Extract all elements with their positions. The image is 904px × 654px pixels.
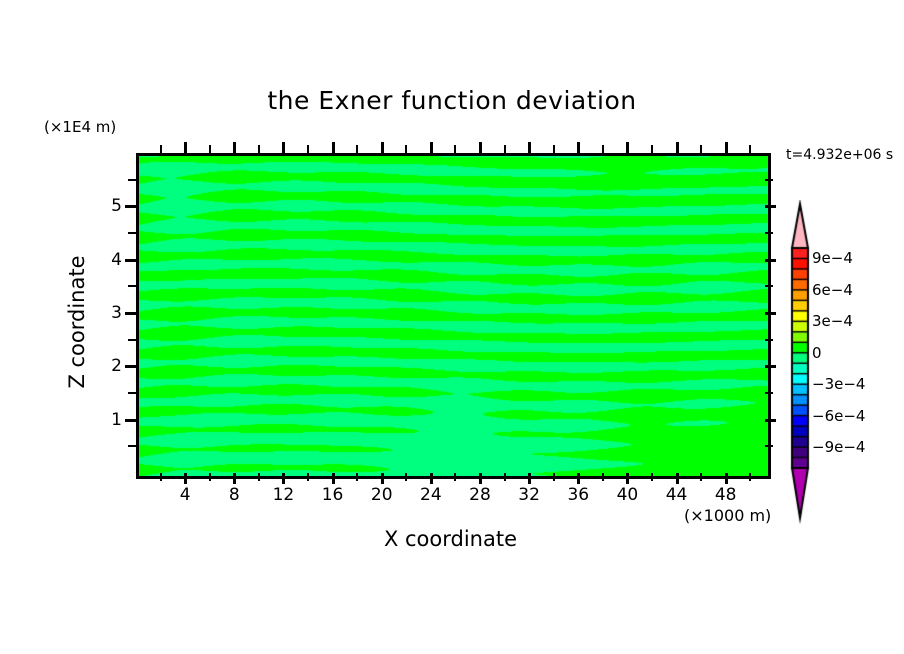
- x-tick: [233, 142, 236, 153]
- x-tick: [553, 145, 555, 153]
- x-tick: [381, 473, 384, 484]
- x-ticklabel: 36: [567, 485, 589, 505]
- x-ticklabel: 12: [273, 485, 295, 505]
- x-tick: [577, 142, 580, 153]
- y-tick: [128, 285, 136, 287]
- x-axis-unit-label: (×1000 m): [684, 506, 771, 525]
- x-tick: [479, 142, 482, 153]
- colorbar-ticklabel: 9e−4: [812, 249, 853, 267]
- colorbar-ticklabel: 0: [812, 344, 822, 362]
- x-tick: [725, 473, 728, 484]
- y-tick: [765, 445, 773, 447]
- x-tick: [258, 145, 260, 153]
- y-tick: [765, 285, 773, 287]
- x-tick: [356, 473, 358, 481]
- x-tick: [700, 145, 702, 153]
- x-tick: [430, 473, 433, 484]
- colorbar-ticklabel: 6e−4: [812, 281, 853, 299]
- y-tick: [128, 339, 136, 341]
- time-annotation: t=4.932e+06 s: [786, 147, 893, 163]
- y-ticklabel: 3: [96, 303, 122, 323]
- x-tick: [258, 473, 260, 481]
- x-tick: [528, 142, 531, 153]
- x-tick: [749, 145, 751, 153]
- x-ticklabel: 24: [420, 485, 442, 505]
- y-axis-label: Z coordinate: [65, 222, 89, 422]
- x-tick: [209, 145, 211, 153]
- x-tick: [282, 473, 285, 484]
- x-ticklabel: 4: [180, 485, 191, 505]
- y-tick: [125, 365, 136, 368]
- x-tick: [479, 473, 482, 484]
- x-axis-label: X coordinate: [136, 527, 765, 551]
- x-tick: [504, 145, 506, 153]
- plot-area: [136, 153, 771, 479]
- x-tick: [676, 142, 679, 153]
- x-tick: [184, 142, 187, 153]
- x-tick: [209, 473, 211, 481]
- x-tick: [160, 473, 162, 481]
- x-tick: [749, 473, 751, 481]
- x-tick: [282, 142, 285, 153]
- x-tick: [626, 142, 629, 153]
- x-tick: [504, 473, 506, 481]
- x-tick: [676, 473, 679, 484]
- y-tick: [125, 205, 136, 208]
- x-ticklabel: 8: [229, 485, 240, 505]
- y-tick: [765, 419, 776, 422]
- x-tick: [160, 145, 162, 153]
- y-tick: [765, 312, 776, 315]
- x-tick: [332, 142, 335, 153]
- x-tick: [626, 473, 629, 484]
- x-tick: [405, 145, 407, 153]
- x-tick: [233, 473, 236, 484]
- x-ticklabel: 32: [518, 485, 540, 505]
- y-tick: [765, 179, 773, 181]
- y-ticklabel: 2: [96, 356, 122, 376]
- x-ticklabel: 44: [666, 485, 688, 505]
- y-tick: [128, 392, 136, 394]
- y-tick: [765, 259, 776, 262]
- y-ticklabel: 4: [96, 250, 122, 270]
- x-tick: [651, 473, 653, 481]
- x-tick: [725, 142, 728, 153]
- y-tick: [128, 232, 136, 234]
- x-tick: [577, 473, 580, 484]
- x-tick: [602, 473, 604, 481]
- page-title: the Exner function deviation: [0, 86, 904, 115]
- y-tick: [125, 259, 136, 262]
- x-tick: [430, 142, 433, 153]
- y-ticklabel: 5: [96, 196, 122, 216]
- x-tick: [405, 473, 407, 481]
- x-tick: [528, 473, 531, 484]
- x-tick: [553, 473, 555, 481]
- x-tick: [651, 145, 653, 153]
- x-ticklabel: 48: [715, 485, 737, 505]
- x-tick: [454, 145, 456, 153]
- contour-field: [139, 156, 768, 476]
- x-tick: [602, 145, 604, 153]
- x-ticklabel: 16: [322, 485, 344, 505]
- y-tick: [765, 232, 773, 234]
- y-tick: [765, 365, 776, 368]
- y-tick: [128, 179, 136, 181]
- colorbar-ticklabel: 3e−4: [812, 312, 853, 330]
- contour-figure: the Exner function deviation (×1E4 m) t=…: [0, 0, 904, 654]
- y-tick: [125, 312, 136, 315]
- colorbar-ticklabel: −3e−4: [812, 375, 865, 393]
- x-tick: [307, 473, 309, 481]
- y-tick: [765, 339, 773, 341]
- x-ticklabel: 28: [469, 485, 491, 505]
- x-tick: [454, 473, 456, 481]
- y-axis-unit-label: (×1E4 m): [44, 118, 116, 136]
- x-tick: [381, 142, 384, 153]
- y-tick: [128, 445, 136, 447]
- y-ticklabel: 1: [96, 410, 122, 430]
- y-tick: [765, 205, 776, 208]
- y-tick: [765, 392, 773, 394]
- x-tick: [184, 473, 187, 484]
- x-tick: [700, 473, 702, 481]
- colorbar-ticklabel: −6e−4: [812, 407, 865, 425]
- x-tick: [356, 145, 358, 153]
- y-tick: [125, 419, 136, 422]
- colorbar-ticklabel: −9e−4: [812, 438, 865, 456]
- x-ticklabel: 40: [617, 485, 639, 505]
- x-tick: [307, 145, 309, 153]
- x-ticklabel: 20: [371, 485, 393, 505]
- x-tick: [332, 473, 335, 484]
